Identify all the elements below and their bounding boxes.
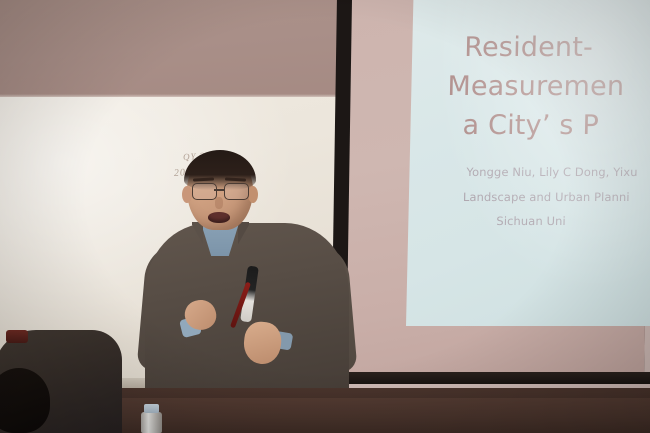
water-bottle-cap: [144, 404, 159, 413]
water-bottle-body: [141, 412, 162, 433]
presenter-left-ear: [182, 186, 192, 203]
slide-title-line-1: Resident-: [464, 28, 650, 67]
slide-authors-line: Yongge Niu, Lily C Dong, Yixu: [466, 164, 637, 180]
glasses-left-lens-icon: [192, 183, 217, 200]
presenter-nose: [215, 197, 223, 209]
glasses-bridge-icon: [214, 189, 225, 191]
slide-affiliation-line: Sichuan Uni: [496, 213, 566, 229]
projection-screen-bottom-bar: [340, 372, 650, 384]
slide-journal-line: Landscape and Urban Planni: [463, 189, 630, 205]
upper-wall: [0, 0, 360, 99]
slide-title-line-2: Measuremen: [447, 67, 650, 106]
presenter-right-ear: [248, 186, 258, 203]
photo-scene: QY 2050 20456789 Resident- Measuremen a …: [0, 0, 650, 433]
presentation-slide: Resident- Measuremen a City’ s P Yongge …: [406, 0, 650, 326]
presenter-mouth: [208, 212, 230, 223]
red-object: [6, 330, 28, 343]
water-bottle: [141, 404, 162, 433]
glasses-right-lens-icon: [224, 183, 249, 200]
slide-content: Resident- Measuremen a City’ s P Yongge …: [406, 0, 650, 326]
slide-title-line-3: a City’ s P: [462, 106, 650, 145]
